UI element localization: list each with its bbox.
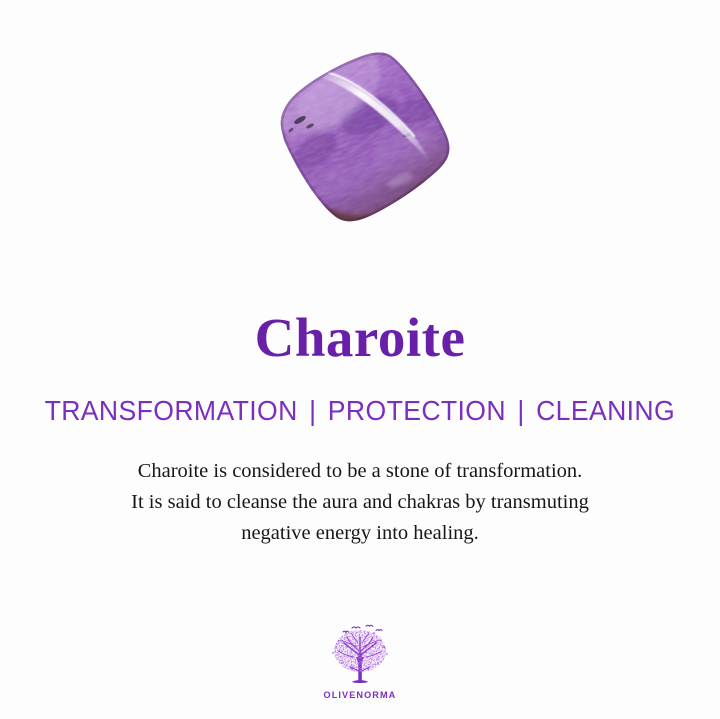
brand-wordmark: OLIVENORMA [324,690,397,701]
keyword-protection: PROTECTION [328,395,506,426]
keyword-separator: | [298,395,328,426]
charoite-info-card: Charoite TRANSFORMATION|PROTECTION|CLEAN… [0,0,720,719]
keyword-list: TRANSFORMATION|PROTECTION|CLEANING [45,365,676,427]
description-line: negative energy into healing. [30,518,690,549]
charoite-stone-image [258,40,463,235]
description-line: Charoite is considered to be a stone of … [30,456,690,487]
keyword-separator: | [506,395,536,426]
description-line: It is said to cleanse the aura and chakr… [30,487,690,518]
keyword-transformation: TRANSFORMATION [45,395,298,426]
hero-section [0,0,720,262]
description-text: Charoite is considered to be a stone of … [30,427,690,549]
brand-logo: OLIVENORMA [0,623,720,701]
page-title: Charoite [255,262,466,365]
tree-logo-icon [322,623,398,689]
keyword-cleaning: CLEANING [536,395,675,426]
charoite-stone-svg [258,40,463,235]
